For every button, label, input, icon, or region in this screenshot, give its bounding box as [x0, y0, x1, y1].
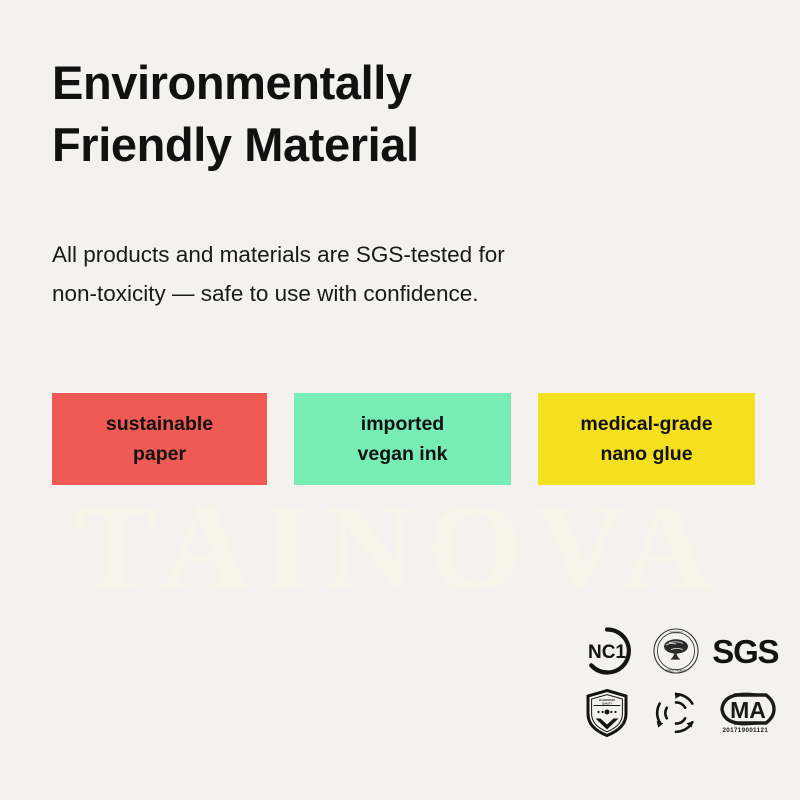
material-chip-imported-vegan-ink: imported vegan ink [294, 393, 511, 485]
recycling-icon [645, 683, 707, 743]
shield-quality-icon: GUARANTEED QUALITY [576, 683, 638, 743]
page-title-line-2: Friendly Material [52, 114, 692, 176]
material-chip-medical-grade-nano-glue: medical-grade nano glue [538, 393, 755, 485]
page-title-line-1: Environmentally [52, 52, 692, 114]
cma-icon: MA 201719001121 [714, 683, 776, 743]
material-chip-label-line-1: medical-grade [580, 409, 712, 439]
cma-certificate-number: 201719001121 [722, 727, 768, 734]
poster-canvas: TAINOVA Environmentally Friendly Materia… [0, 0, 800, 800]
page-description-line-2: non-toxicity — safe to use with confiden… [52, 275, 652, 314]
sgs-icon: SGS [714, 621, 776, 681]
svg-text:CERTIFIED: CERTIFIED [670, 631, 683, 634]
nc1-label: NC1 [588, 642, 626, 663]
material-chip-label-line-1: sustainable [106, 409, 213, 439]
brand-watermark: TAINOVA [0, 487, 800, 609]
nc1-icon: NC1 [576, 621, 638, 681]
material-chip-label-line-2: vegan ink [358, 439, 448, 469]
svg-text:GUARANTEED: GUARANTEED [599, 699, 616, 702]
sgs-label: SGS [712, 635, 778, 668]
page-description: All products and materials are SGS-teste… [52, 236, 652, 313]
svg-text:FOREST PRODUCT: FOREST PRODUCT [665, 670, 688, 673]
material-chip-label-line-2: nano glue [600, 439, 692, 469]
forest-seal-icon: CERTIFIED FOREST PRODUCT [645, 621, 707, 681]
material-chip-label-line-1: imported [361, 409, 444, 439]
page-description-line-1: All products and materials are SGS-teste… [52, 236, 652, 275]
svg-text:QUALITY: QUALITY [602, 702, 613, 705]
material-chip-sustainable-paper: sustainable paper [52, 393, 267, 485]
material-chip-label-line-2: paper [133, 439, 186, 469]
material-chip-list: sustainable paper imported vegan ink med… [52, 393, 754, 485]
certification-badge-grid: NC1 CERTIFIED FOREST PRODUCT [572, 620, 780, 744]
page-title: Environmentally Friendly Material [52, 52, 692, 176]
cma-label: MA [730, 697, 766, 723]
